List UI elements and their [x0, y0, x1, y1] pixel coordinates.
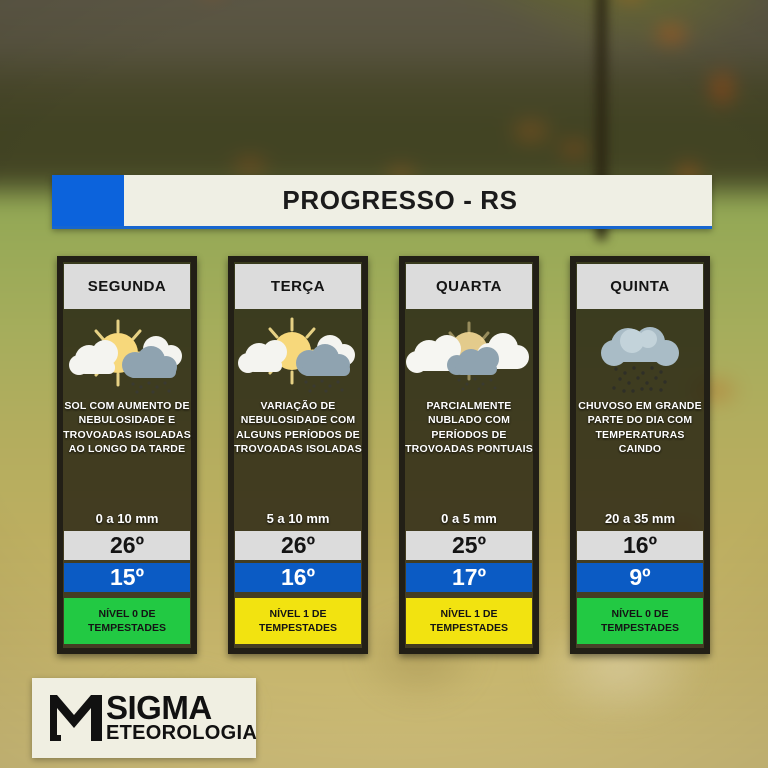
storm-level-badge: NÍVEL 0 DE TEMPESTADES [64, 598, 190, 644]
storm-level-line2: TEMPESTADES [259, 621, 337, 635]
storm-level-badge: NÍVEL 0 DE TEMPESTADES [577, 598, 703, 644]
rain-amount: 0 a 5 mm [441, 511, 497, 526]
day-label: TERÇA [235, 264, 361, 309]
m-logo-icon [46, 689, 108, 747]
sun-behind-cloud-with-rain-icon [63, 315, 191, 395]
storm-level-line1: NÍVEL 1 DE [270, 607, 327, 621]
forecast-description: SOL COM AUMENTO DE NEBULOSIDADE E TROVOA… [63, 399, 191, 471]
storm-level-line2: TEMPESTADES [601, 621, 679, 635]
forecast-card: QUARTA [399, 256, 539, 654]
sun-behind-cloud-with-rain-icon [234, 315, 362, 395]
title-accent-block [52, 175, 124, 226]
forecast-description: CHUVOSO EM GRANDE PARTE DO DIA COM TEMPE… [576, 399, 704, 471]
temperature-min: 16º [235, 563, 361, 592]
temperature-max: 26º [235, 531, 361, 560]
title-bar: PROGRESSO - RS [52, 175, 712, 229]
forecast-description: VARIAÇÃO DE NEBULOSIDADE COM ALGUNS PERÍ… [234, 399, 362, 471]
page-title: PROGRESSO - RS [282, 185, 517, 216]
forecast-card: TERÇA [228, 256, 368, 654]
rain-amount: 5 a 10 mm [267, 511, 330, 526]
sun-behind-clouds-with-rain-icon [405, 315, 533, 395]
rain-amount: 0 a 10 mm [96, 511, 159, 526]
rain-amount: 20 a 35 mm [605, 511, 675, 526]
forecast-card-list: SEGUNDA [57, 256, 711, 654]
temperature-min: 9º [577, 563, 703, 592]
brand-wordmark: SIGMA ETEOROLOGIA [106, 693, 257, 743]
day-label: SEGUNDA [64, 264, 190, 309]
temperature-max: 25º [406, 531, 532, 560]
storm-level-line1: NÍVEL 0 DE [612, 607, 669, 621]
day-label: QUINTA [577, 264, 703, 309]
storm-level-badge: NÍVEL 1 DE TEMPESTADES [235, 598, 361, 644]
brand-logo: SIGMA ETEOROLOGIA [32, 678, 256, 758]
forecast-description: PARCIALMENTE NUBLADO COM PERÍODOS DE TRO… [405, 399, 533, 471]
temperature-max: 16º [577, 531, 703, 560]
storm-level-line1: NÍVEL 0 DE [99, 607, 156, 621]
forecast-card: QUINTA [570, 256, 710, 654]
storm-level-line1: NÍVEL 1 DE [441, 607, 498, 621]
weather-forecast-graphic: PROGRESSO - RS SEGUNDA [0, 0, 768, 768]
storm-level-line2: TEMPESTADES [88, 621, 166, 635]
rain-cloud-icon [576, 315, 704, 395]
brand-name: SIGMA [106, 693, 257, 723]
storm-level-badge: NÍVEL 1 DE TEMPESTADES [406, 598, 532, 644]
title-panel: PROGRESSO - RS [124, 175, 712, 226]
brand-subtitle: ETEOROLOGIA [106, 723, 257, 743]
temperature-min: 15º [64, 563, 190, 592]
temperature-min: 17º [406, 563, 532, 592]
storm-level-line2: TEMPESTADES [430, 621, 508, 635]
forecast-card: SEGUNDA [57, 256, 197, 654]
day-label: QUARTA [406, 264, 532, 309]
temperature-max: 26º [64, 531, 190, 560]
